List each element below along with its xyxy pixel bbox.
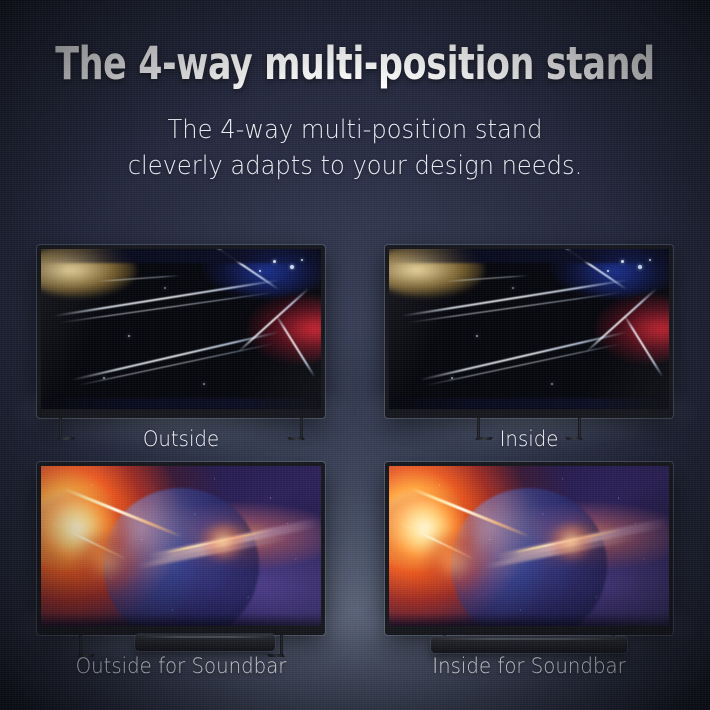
- panel-outside: [37, 245, 325, 418]
- screen-artwork-space: [389, 466, 669, 626]
- caption-inside-soundbar: Inside for Soundbar: [370, 653, 688, 679]
- tv-inside: [385, 245, 673, 418]
- caption-outside-soundbar: Outside for Soundbar: [22, 653, 340, 679]
- tv-inside-soundbar: [385, 462, 673, 635]
- screen-artwork-fluid: [41, 249, 321, 409]
- screen-artwork-fluid: [389, 249, 669, 409]
- tv-screen: [389, 249, 669, 409]
- tv-bezel: [37, 245, 325, 418]
- tv-screen: [41, 466, 321, 626]
- tv-bezel: [37, 462, 325, 635]
- tv-screen: [41, 249, 321, 409]
- tv-bezel: [385, 462, 673, 635]
- tv-bezel: [385, 245, 673, 418]
- screen-artwork-space: [41, 466, 321, 626]
- subtitle-line-2: cleverly adapts to your design needs.: [25, 148, 685, 184]
- soundbar: [135, 634, 275, 651]
- caption-inside: Inside: [394, 426, 665, 452]
- promo-graphic: The 4-way multi-position stand The 4-way…: [0, 0, 710, 710]
- panel-inside: [385, 245, 673, 418]
- panel-inside-soundbar: [385, 462, 673, 635]
- tv-outside: [37, 245, 325, 418]
- tv-outside-soundbar: [37, 462, 325, 635]
- soundbar: [431, 636, 627, 653]
- caption-outside: Outside: [46, 426, 317, 452]
- subtitle: The 4-way multi-position stand cleverly …: [0, 112, 710, 184]
- page-title-text: The 4-way multi-position stand: [50, 36, 661, 92]
- subtitle-line-1: The 4-way multi-position stand: [25, 112, 685, 148]
- page-title: The 4-way multi-position stand: [0, 36, 710, 92]
- panel-outside-soundbar: [37, 462, 325, 635]
- tv-screen: [389, 466, 669, 626]
